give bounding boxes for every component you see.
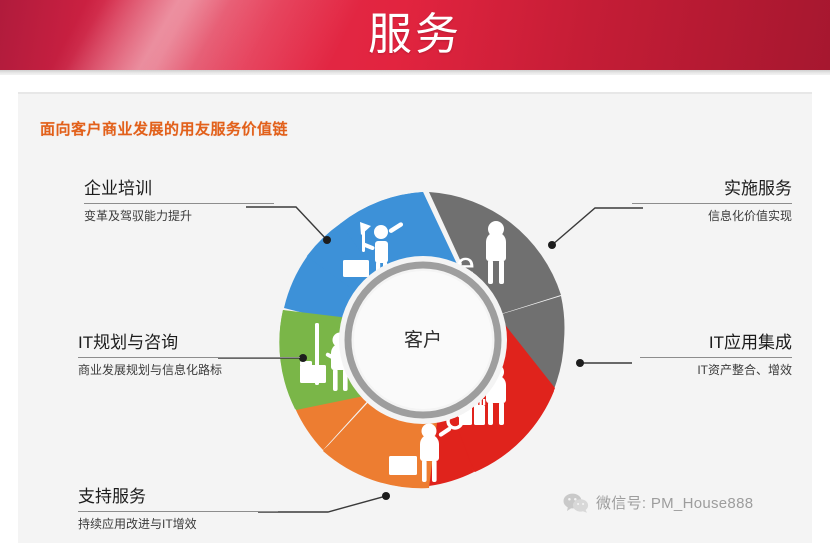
callout-implementation[interactable]: 实施服务 信息化价值实现 — [632, 178, 792, 224]
panel-top-divider — [18, 92, 812, 94]
callout-implementation-subtitle: 信息化价值实现 — [632, 208, 792, 224]
callout-planning-rule — [78, 357, 300, 358]
callout-planning[interactable]: IT规划与咨询 商业发展规划与信息化路标 — [78, 332, 300, 378]
header-banner: 服务 — [0, 0, 830, 70]
callout-support[interactable]: 支持服务 持续应用改进与IT增效 — [78, 486, 278, 532]
callout-training[interactable]: 企业培训 变革及驾驭能力提升 — [84, 178, 274, 224]
wechat-icon — [563, 493, 589, 513]
callout-implementation-rule — [632, 203, 792, 204]
callout-integration-subtitle: IT资产整合、增效 — [640, 362, 792, 378]
callout-planning-subtitle: 商业发展规划与信息化路标 — [78, 362, 300, 378]
wheel-hub-label: 客户 — [373, 325, 473, 352]
wechat-watermark: 微信号: PM_House888 — [563, 492, 753, 513]
callout-training-subtitle: 变革及驾驭能力提升 — [84, 208, 274, 224]
panel-subtitle: 面向客户商业发展的用友服务价值链 — [40, 118, 288, 139]
callout-planning-title: IT规划与咨询 — [78, 332, 300, 354]
callout-training-title: 企业培训 — [84, 178, 274, 200]
callout-implementation-title: 实施服务 — [632, 178, 792, 200]
banner-underline-divider — [0, 70, 830, 75]
callout-integration-rule — [640, 357, 792, 358]
callout-integration[interactable]: IT应用集成 IT资产整合、增效 — [640, 332, 792, 378]
callout-training-rule — [84, 203, 274, 204]
callout-support-subtitle: 持续应用改进与IT增效 — [78, 516, 278, 532]
callout-support-rule — [78, 511, 278, 512]
callout-support-title: 支持服务 — [78, 486, 278, 508]
slide-canvas: 服务 面向客户商业发展的用友服务价值链 — [0, 0, 830, 550]
wechat-watermark-text: 微信号: PM_House888 — [596, 492, 753, 513]
page-title: 服务 — [0, 3, 830, 67]
callout-integration-title: IT应用集成 — [640, 332, 792, 354]
